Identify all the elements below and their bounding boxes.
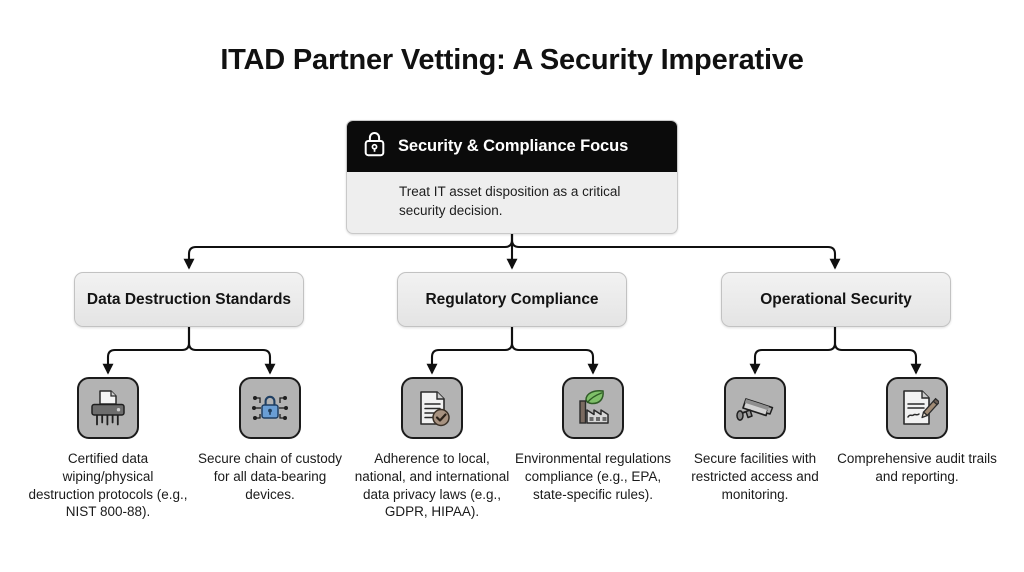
leaf-caption: Secure chain of custody for all data-bea…	[190, 450, 350, 503]
leaf-icon-tile	[724, 377, 786, 439]
connector-branch-2-to-leaf-3	[432, 327, 512, 373]
leaf-node-environmental-regulations[interactable]: Environmental regulations compliance (e.…	[513, 377, 673, 503]
connector-branch-2-to-leaf-4	[512, 327, 593, 373]
root-node-body: Treat IT asset disposition as a critical…	[347, 172, 677, 233]
leaf-caption: Adherence to local, national, and intern…	[352, 450, 512, 521]
network-lock-icon	[248, 386, 292, 430]
root-node-header: Security & Compliance Focus	[347, 121, 677, 172]
leaf-caption: Environmental regulations compliance (e.…	[513, 450, 673, 503]
root-node-title: Security & Compliance Focus	[398, 137, 628, 156]
leaf-caption: Comprehensive audit trails and reporting…	[837, 450, 997, 486]
branch-node-data-destruction-standards[interactable]: Data Destruction Standards	[74, 272, 304, 327]
leaf-node-chain-of-custody[interactable]: Secure chain of custody for all data-bea…	[190, 377, 350, 503]
leaf-node-secure-facilities[interactable]: Secure facilities with restricted access…	[675, 377, 835, 503]
connector-branch-3-to-leaf-5	[755, 327, 835, 373]
connector-branch-1-to-leaf-1	[108, 327, 189, 373]
connector-branch-1-to-leaf-2	[189, 327, 270, 373]
leaf-icon-tile	[239, 377, 301, 439]
branch-node-regulatory-compliance[interactable]: Regulatory Compliance	[397, 272, 627, 327]
diagram-canvas: ITAD Partner Vetting: A Security Imperat…	[0, 0, 1024, 572]
leaf-icon-tile	[401, 377, 463, 439]
leaf-node-audit-trails[interactable]: Comprehensive audit trails and reporting…	[837, 377, 997, 486]
leaf-caption: Secure facilities with restricted access…	[675, 450, 835, 503]
document-check-icon	[410, 386, 454, 430]
eco-factory-icon	[571, 386, 615, 430]
page-title: ITAD Partner Vetting: A Security Imperat…	[0, 44, 1024, 77]
document-pencil-icon	[895, 386, 939, 430]
leaf-node-data-wiping[interactable]: Certified data wiping/physical destructi…	[28, 377, 188, 521]
connector-branch-3-to-leaf-6	[835, 327, 916, 373]
leaf-caption: Certified data wiping/physical destructi…	[28, 450, 188, 521]
paper-shredder-icon	[86, 386, 130, 430]
lock-icon	[362, 130, 387, 163]
leaf-node-privacy-laws[interactable]: Adherence to local, national, and intern…	[352, 377, 512, 521]
leaf-icon-tile	[886, 377, 948, 439]
leaf-icon-tile	[77, 377, 139, 439]
leaf-icon-tile	[562, 377, 624, 439]
security-camera-icon	[733, 386, 777, 430]
branch-node-operational-security[interactable]: Operational Security	[721, 272, 951, 327]
root-node[interactable]: Security & Compliance Focus Treat IT ass…	[346, 120, 678, 234]
